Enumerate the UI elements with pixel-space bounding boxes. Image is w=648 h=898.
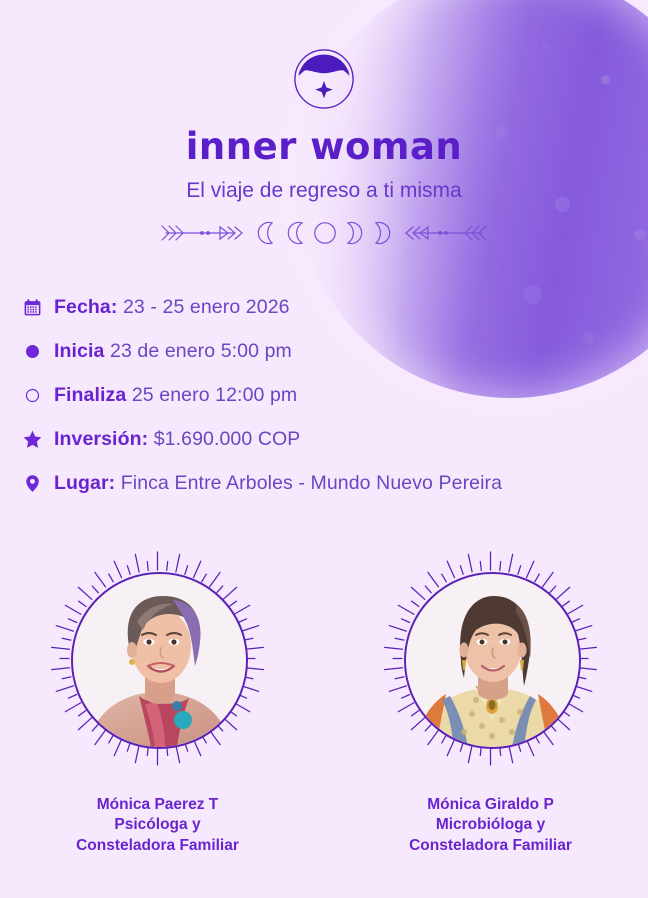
detail-label-inversion: Inversión: [54,428,148,450]
avatar-wrap-1 [50,551,265,766]
portrait-monica-paerez [73,574,246,747]
map-pin-icon [22,473,43,494]
presenter-name: Mónica Paerez T [50,795,265,815]
hollow-circle-icon [22,385,43,406]
avatar [71,572,248,749]
detail-value-lugar: Finca Entre Arboles - Mundo Nuevo Pereir… [121,472,502,494]
event-poster: inner woman El viaje de regreso a ti mis… [0,0,648,898]
poster-header: inner woman El viaje de regreso a ti mis… [0,0,648,247]
avatar-wrap-2 [383,551,598,766]
event-details-list: Fecha: 23 - 25 enero 2026 Inicia 23 de e… [0,285,648,505]
detail-label-inicia: Inicia [54,340,104,362]
detail-value-inicia: 23 de enero 5:00 pm [110,340,292,362]
detail-label-lugar: Lugar: [54,472,115,494]
detail-row-lugar: Lugar: Finca Entre Arboles - Mundo Nuevo… [22,461,648,505]
arrow-moonphases-arrow-divider-icon [144,219,504,247]
portrait-monica-giraldo [406,574,579,747]
presenters-section: Mónica Paerez T Psicóloga y Consteladora… [0,551,648,856]
presenter-role: Microbióloga y Consteladora Familiar [383,815,598,856]
presenter-card-1: Mónica Paerez T Psicóloga y Consteladora… [50,551,265,856]
detail-row-finaliza: Finaliza 25 enero 12:00 pm [22,373,648,417]
star-icon [22,429,43,450]
presenter-role: Psicóloga y Consteladora Familiar [50,815,265,856]
detail-label-fecha: Fecha: [54,296,117,318]
calendar-icon [22,297,43,318]
brand-title: inner woman [0,128,648,165]
detail-label-finaliza: Finaliza [54,384,126,406]
detail-value-inversion: $1.690.000 COP [154,428,301,450]
brand-subtitle: El viaje de regreso a ti misma [0,180,648,201]
avatar [404,572,581,749]
detail-value-fecha: 23 - 25 enero 2026 [123,296,290,318]
filled-circle-icon [22,341,43,362]
presenter-name: Mónica Giraldo P [383,795,598,815]
detail-value-finaliza: 25 enero 12:00 pm [132,384,297,406]
crescent-moon-star-logo-icon [293,48,355,110]
presenter-card-2: Mónica Giraldo P Microbióloga y Constela… [383,551,598,856]
detail-row-inversion: Inversión: $1.690.000 COP [22,417,648,461]
detail-row-fecha: Fecha: 23 - 25 enero 2026 [22,285,648,329]
detail-row-inicia: Inicia 23 de enero 5:00 pm [22,329,648,373]
